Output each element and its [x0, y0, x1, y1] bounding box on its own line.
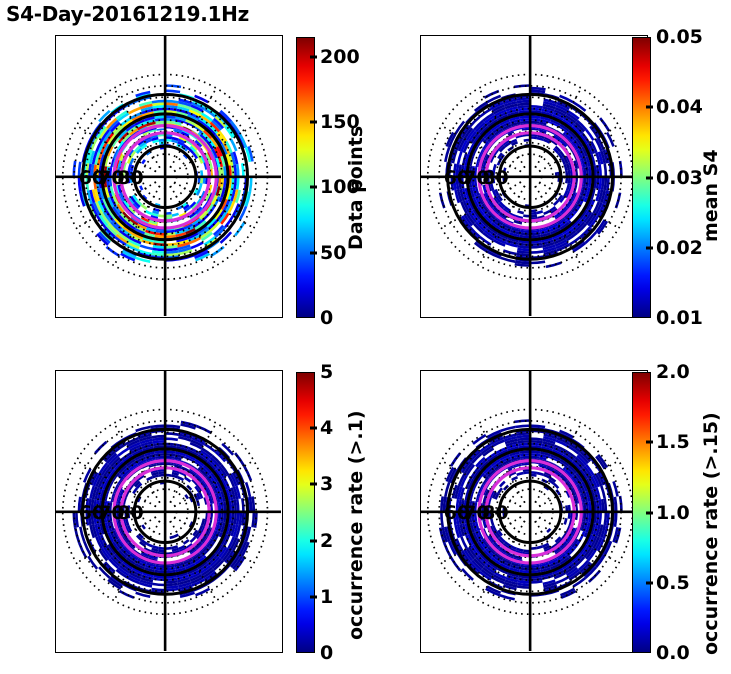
colorbar-tick-label: 1.0 — [656, 502, 690, 524]
colorbar-tick-mark — [646, 441, 653, 444]
colorbar-ticks-occurrence-rate-gt-point15: 0.00.51.01.52.0 — [0, 0, 731, 674]
colorbar-tick-label: 2.0 — [656, 361, 690, 383]
colorbar-tick-label: 1.5 — [656, 431, 690, 453]
colorbar-label-occurrence-rate-gt-point15: occurrence rate (>.15) — [700, 412, 722, 655]
colorbar-tick-mark — [646, 511, 653, 514]
colorbar-tick-label: 0.5 — [656, 572, 690, 594]
colorbar-tick-label: 0.0 — [656, 642, 690, 664]
colorbar-tick-mark — [646, 581, 653, 584]
figure-root: S4-Day-20161219.1Hz 050100150200Data poi… — [0, 0, 731, 674]
panel-occurrence-rate-gt-point15: 0.00.51.01.52.0occurrence rate (>.15) — [0, 0, 731, 674]
